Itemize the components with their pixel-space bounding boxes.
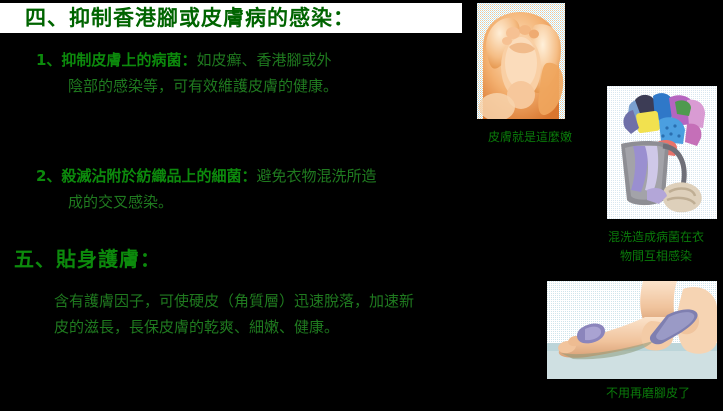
list-item-1-line2: 陰部的感染等，可有效維護皮膚的健康。: [68, 73, 338, 99]
section-5-line2: 皮的滋長，長保皮膚的乾爽、細嫩、健康。: [54, 314, 414, 340]
page-title: 四、抑制香港腳或皮膚病的感染：: [25, 7, 355, 29]
caption-baby-foot: 皮膚就是這麼嫩: [480, 128, 580, 147]
caption-laundry-line2: 物間互相感染: [592, 247, 720, 266]
baby-foot-illustration: [477, 3, 565, 119]
list-item-2-line2: 成的交叉感染。: [68, 189, 376, 215]
list-item-2-lead: 2、殺滅沾附於紡織品上的細菌：: [36, 167, 256, 185]
section-5-heading: 五、貼身護膚：: [14, 243, 161, 272]
caption-laundry-line1: 混洗造成病菌在衣: [592, 228, 720, 247]
laundry-basket-illustration: [607, 86, 717, 219]
title-banner: 四、抑制香港腳或皮膚病的感染：: [0, 3, 462, 33]
laundry-basket-image: [607, 86, 717, 219]
caption-foot-file: 不用再磨腳皮了: [578, 384, 718, 403]
section-5-body: 含有護膚因子，可使硬皮（角質層）迅速脫落，加速新 皮的滋長，長保皮膚的乾爽、細嫩…: [54, 288, 414, 340]
list-item-2-line1: 避免衣物混洗所造: [256, 167, 376, 185]
foot-file-illustration: [547, 281, 717, 379]
foot-file-image: [547, 281, 717, 379]
baby-foot-image: [477, 3, 565, 119]
caption-laundry: 混洗造成病菌在衣 物間互相感染: [592, 228, 720, 266]
list-item-1-lead: 1、抑制皮膚上的病菌：: [36, 51, 196, 69]
list-item-1-line1: 如皮癬、香港腳或外: [196, 51, 331, 69]
slide-canvas: 四、抑制香港腳或皮膚病的感染： 1、抑制皮膚上的病菌：如皮癬、香港腳或外 陰部的…: [0, 0, 723, 411]
list-item-2: 2、殺滅沾附於紡織品上的細菌：避免衣物混洗所造 成的交叉感染。: [36, 163, 376, 215]
list-item-1: 1、抑制皮膚上的病菌：如皮癬、香港腳或外 陰部的感染等，可有效維護皮膚的健康。: [36, 47, 338, 99]
section-5-line1: 含有護膚因子，可使硬皮（角質層）迅速脫落，加速新: [54, 292, 414, 310]
